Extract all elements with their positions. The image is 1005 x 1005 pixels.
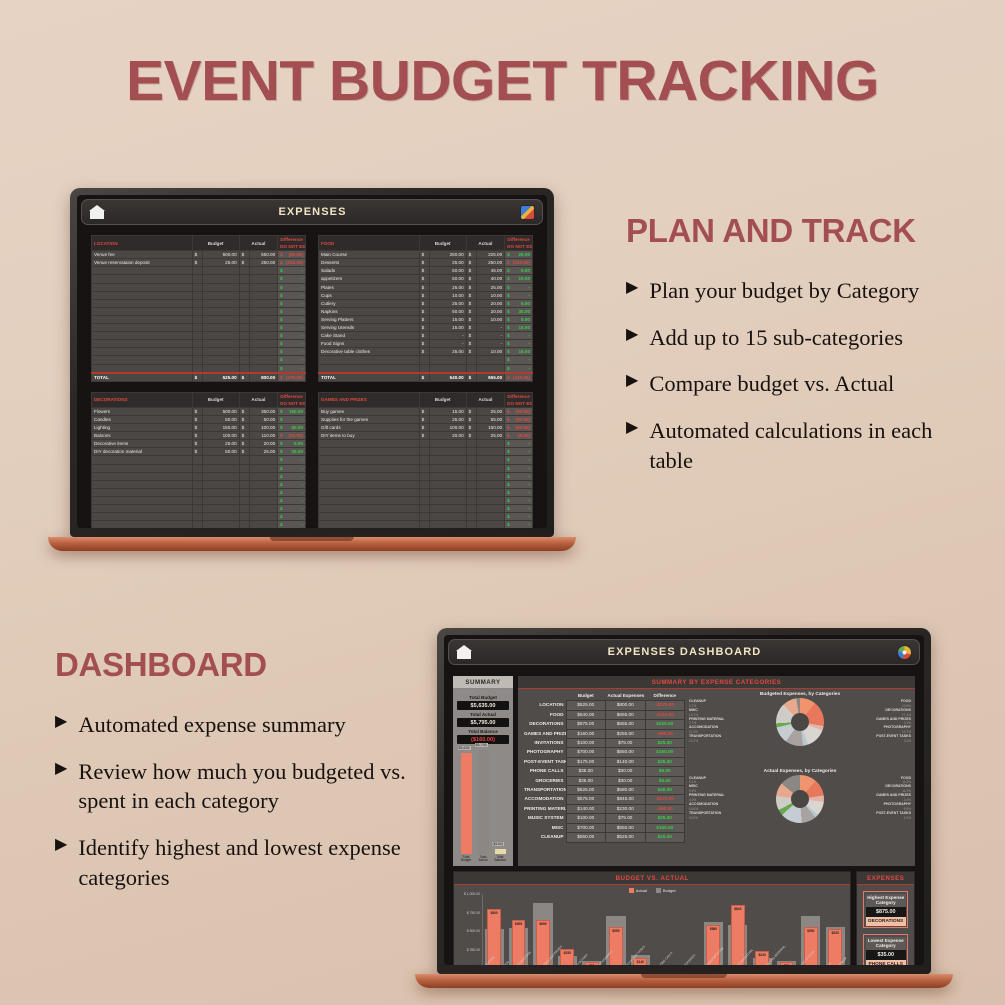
budget-cell[interactable]: 15.00 bbox=[430, 407, 466, 415]
table-row[interactable]: Decorative table clothes$25.00$10.00$15.… bbox=[319, 348, 533, 356]
actual-cell[interactable] bbox=[250, 291, 278, 299]
table-row-empty[interactable]: $- bbox=[319, 448, 533, 456]
table-row-empty[interactable]: $- bbox=[319, 364, 533, 373]
table-row-empty[interactable]: $- bbox=[319, 480, 533, 488]
actual-cell[interactable] bbox=[250, 283, 278, 291]
donut-title: Actual Expenses, by Categories bbox=[689, 769, 911, 774]
actual-cell[interactable]: 10.00 bbox=[477, 291, 505, 299]
table-row[interactable]: Venue fee$500.00$550.00$(50.00) bbox=[92, 251, 306, 259]
actual-cell[interactable] bbox=[477, 364, 505, 373]
bar-group[interactable]: $800 bbox=[483, 894, 505, 965]
actual-cell[interactable]: 250.00 bbox=[477, 259, 505, 267]
budget-cell[interactable] bbox=[203, 472, 239, 480]
actual-cell[interactable] bbox=[250, 315, 278, 323]
budget-cell[interactable]: 500.00 bbox=[203, 251, 239, 259]
table-row-empty[interactable]: $- bbox=[92, 340, 306, 348]
kpi-value: $5,795.00 bbox=[457, 718, 509, 727]
currency-symbol bbox=[419, 488, 430, 496]
table-row-empty[interactable]: $- bbox=[92, 496, 306, 504]
row-label: Napkins bbox=[319, 307, 420, 315]
actual-cell[interactable] bbox=[250, 472, 278, 480]
table-row-empty[interactable]: $- bbox=[319, 456, 533, 464]
actual-cell[interactable]: - bbox=[477, 340, 505, 348]
table-row-empty[interactable]: $- bbox=[319, 496, 533, 504]
row-label: Main Course bbox=[319, 251, 420, 259]
difference-cell: $- bbox=[505, 456, 533, 464]
currency-symbol bbox=[192, 464, 203, 472]
budget-cell[interactable] bbox=[430, 505, 466, 513]
actual-cell[interactable] bbox=[477, 456, 505, 464]
table-row-empty[interactable]: $- bbox=[319, 440, 533, 448]
budget-cell[interactable] bbox=[430, 456, 466, 464]
table-row-empty[interactable]: $- bbox=[92, 456, 306, 464]
row-label[interactable] bbox=[92, 315, 193, 323]
budget-cell[interactable] bbox=[203, 496, 239, 504]
table-row[interactable]: Serving Platters$15.00$10.00$5.00 bbox=[319, 315, 533, 323]
summary-budget: $625.00 bbox=[566, 786, 606, 795]
currency-symbol bbox=[239, 340, 250, 348]
currency-symbol bbox=[239, 332, 250, 340]
currency-symbol: $ bbox=[419, 373, 430, 382]
actual-cell[interactable] bbox=[250, 348, 278, 356]
actual-cell[interactable]: 45.00 bbox=[477, 267, 505, 275]
budget-cell[interactable] bbox=[203, 456, 239, 464]
currency-symbol bbox=[466, 480, 477, 488]
summary-actual: $845.00 bbox=[606, 795, 646, 804]
row-label[interactable] bbox=[319, 488, 420, 496]
currency-symbol bbox=[192, 348, 203, 356]
actual-cell[interactable] bbox=[250, 332, 278, 340]
table-category-header: FOOD bbox=[319, 236, 420, 251]
table-row[interactable]: Venue reservataion deposit$25.00$250.00$… bbox=[92, 259, 306, 267]
difference-cell: $15.00 bbox=[505, 324, 533, 332]
budget-cell[interactable] bbox=[430, 521, 466, 528]
table-row[interactable]: ACCOMODATION$575.00$845.00-$270.00 bbox=[522, 795, 685, 804]
budget-cell[interactable] bbox=[203, 283, 239, 291]
table-row-empty[interactable]: $- bbox=[92, 472, 306, 480]
row-label[interactable] bbox=[92, 267, 193, 275]
table-row-empty[interactable]: $- bbox=[92, 505, 306, 513]
row-label[interactable] bbox=[319, 513, 420, 521]
actual-cell[interactable] bbox=[250, 521, 278, 528]
kpi-label: Total Balance bbox=[457, 729, 509, 734]
row-label[interactable] bbox=[319, 472, 420, 480]
row-label[interactable] bbox=[92, 307, 193, 315]
budget-cell[interactable] bbox=[430, 356, 466, 364]
table-row-empty[interactable]: $- bbox=[92, 315, 306, 323]
budget-cell[interactable] bbox=[430, 440, 466, 448]
budget-cell[interactable] bbox=[203, 348, 239, 356]
table-row[interactable]: PHONE CALLS$35.00$30.00$5.00 bbox=[522, 767, 685, 776]
bar-group[interactable]: $30 bbox=[678, 894, 700, 965]
budget-cell[interactable] bbox=[430, 472, 466, 480]
actual-cell[interactable]: 50.00 bbox=[250, 415, 278, 423]
summary-difference: $5.00 bbox=[645, 776, 685, 785]
actual-cell[interactable] bbox=[250, 356, 278, 364]
table-row-empty[interactable]: $- bbox=[319, 488, 533, 496]
budget-cell[interactable] bbox=[203, 480, 239, 488]
actual-cell[interactable] bbox=[250, 364, 278, 373]
table-row[interactable]: Decorative items$25.00$20.00$5.00 bbox=[92, 440, 306, 448]
budget-cell[interactable]: 25.00 bbox=[430, 259, 466, 267]
table-row-empty[interactable]: $- bbox=[92, 364, 306, 373]
currency-symbol: $ bbox=[239, 373, 250, 382]
table-row[interactable]: Cake Stand$-$-$- bbox=[319, 332, 533, 340]
table-row-empty[interactable]: $- bbox=[319, 521, 533, 528]
budget-cell[interactable]: 50.00 bbox=[203, 415, 239, 423]
budget-cell[interactable]: 100.00 bbox=[430, 424, 466, 432]
table-row[interactable]: Desserts$25.00$250.00$(225.00) bbox=[319, 259, 533, 267]
table-row-empty[interactable]: $- bbox=[92, 267, 306, 275]
actual-cell[interactable] bbox=[250, 324, 278, 332]
table-row[interactable]: Napkins$50.00$20.00$30.00 bbox=[319, 307, 533, 315]
row-label[interactable] bbox=[92, 464, 193, 472]
currency-symbol: $ bbox=[466, 259, 477, 267]
currency-symbol: $ bbox=[192, 415, 203, 423]
table-row[interactable]: Gift cards$100.00$150.00$(50.00) bbox=[319, 424, 533, 432]
budget-cell[interactable] bbox=[203, 299, 239, 307]
budget-cell[interactable] bbox=[203, 267, 239, 275]
budget-cell[interactable] bbox=[430, 480, 466, 488]
row-label: Serving Utensils bbox=[319, 324, 420, 332]
row-label[interactable] bbox=[92, 496, 193, 504]
bullet-triangle-icon: ▶ bbox=[626, 323, 638, 348]
table-row-empty[interactable]: $- bbox=[92, 324, 306, 332]
table-row-empty[interactable]: $- bbox=[92, 275, 306, 283]
difference-cell: $- bbox=[505, 472, 533, 480]
difference-cell: $- bbox=[278, 267, 306, 275]
table-row[interactable]: Salads$50.00$45.00$5.00 bbox=[319, 267, 533, 275]
actual-cell[interactable]: - bbox=[477, 332, 505, 340]
row-label: Baloons bbox=[92, 432, 193, 440]
actual-cell[interactable]: 10.00 bbox=[477, 348, 505, 356]
actual-cell[interactable]: 25.00 bbox=[477, 407, 505, 415]
table-row[interactable]: Flowers$500.00$350.00$150.00 bbox=[92, 407, 306, 415]
table-row-empty[interactable]: $- bbox=[92, 521, 306, 528]
difference-cell: $- bbox=[505, 356, 533, 364]
budget-cell[interactable] bbox=[203, 356, 239, 364]
actual-cell[interactable] bbox=[250, 307, 278, 315]
table-row-empty[interactable]: $- bbox=[92, 291, 306, 299]
actual-cell[interactable]: 250.00 bbox=[250, 259, 278, 267]
budget-cell[interactable]: 50.00 bbox=[203, 448, 239, 456]
summary-difference: $35.00 bbox=[645, 757, 685, 766]
table-row[interactable]: Baloons$100.00$110.00$(10.00) bbox=[92, 432, 306, 440]
table-row-empty[interactable]: $- bbox=[92, 299, 306, 307]
budget-cell[interactable]: 50.00 bbox=[430, 267, 466, 275]
row-label[interactable] bbox=[92, 456, 193, 464]
actual-cell[interactable]: 20.00 bbox=[250, 440, 278, 448]
table-row[interactable]: GAMES AND PRIZES$160.00$255.00-$95.00 bbox=[522, 729, 685, 738]
table-row[interactable]: PHOTOGRAPHY$700.00$550.00$150.00 bbox=[522, 748, 685, 757]
home-icon[interactable] bbox=[456, 645, 472, 659]
actual-cell[interactable] bbox=[250, 505, 278, 513]
row-label[interactable] bbox=[319, 505, 420, 513]
promo-bullet-text: Add up to 15 sub-categories bbox=[649, 323, 903, 353]
budget-cell[interactable]: 250.00 bbox=[430, 251, 466, 259]
table-row-empty[interactable]: $- bbox=[92, 488, 306, 496]
actual-cell[interactable] bbox=[477, 513, 505, 521]
bar-group[interactable]: $525 bbox=[824, 894, 846, 965]
actual-cell[interactable] bbox=[250, 275, 278, 283]
row-label[interactable] bbox=[92, 521, 193, 528]
budget-cell[interactable]: - bbox=[430, 340, 466, 348]
actual-cell[interactable]: - bbox=[477, 324, 505, 332]
row-label[interactable] bbox=[92, 364, 193, 373]
table-row[interactable]: Buy games$15.00$25.00$(10.00) bbox=[319, 407, 533, 415]
kpi-item: Total Balance($160.00) bbox=[457, 729, 509, 744]
actual-cell[interactable]: 350.00 bbox=[250, 407, 278, 415]
kpi-bar-value: $5,795 bbox=[475, 743, 488, 747]
actual-cell[interactable]: 20.00 bbox=[477, 299, 505, 307]
currency-symbol: $ bbox=[419, 324, 430, 332]
table-row[interactable]: DECORATIONS$875.00$655.00$220.00 bbox=[522, 720, 685, 729]
actual-cell[interactable] bbox=[250, 340, 278, 348]
budget-cell[interactable] bbox=[430, 364, 466, 373]
row-label[interactable] bbox=[92, 472, 193, 480]
row-label[interactable] bbox=[92, 324, 193, 332]
actual-cell[interactable] bbox=[250, 456, 278, 464]
actual-cell[interactable] bbox=[250, 299, 278, 307]
row-label[interactable] bbox=[92, 275, 193, 283]
row-label[interactable] bbox=[92, 480, 193, 488]
summary-actual: $75.00 bbox=[606, 814, 646, 823]
legend-item-actual: Actual bbox=[629, 888, 647, 893]
budget-cell[interactable] bbox=[203, 324, 239, 332]
actual-cell[interactable]: 25.00 bbox=[477, 283, 505, 291]
budget-cell[interactable]: 25.00 bbox=[430, 283, 466, 291]
table-row[interactable]: LOCATION$525.00$800.00-$275.00 bbox=[522, 701, 685, 710]
budget-cell[interactable]: 10.00 bbox=[430, 291, 466, 299]
difference-cell: $- bbox=[505, 464, 533, 472]
difference-cell: $(50.00) bbox=[278, 251, 306, 259]
actual-cell[interactable] bbox=[250, 480, 278, 488]
budget-cell[interactable] bbox=[203, 332, 239, 340]
table-row[interactable]: Candles$50.00$50.00$- bbox=[92, 415, 306, 423]
budget-cell[interactable]: - bbox=[430, 332, 466, 340]
difference-cell: $5.00 bbox=[505, 315, 533, 323]
actual-cell[interactable] bbox=[477, 356, 505, 364]
table-row-empty[interactable]: $- bbox=[92, 480, 306, 488]
actual-cell[interactable]: 25.00 bbox=[477, 432, 505, 440]
currency-symbol: $ bbox=[466, 407, 477, 415]
budget-cell[interactable] bbox=[430, 513, 466, 521]
table-row[interactable]: Supplies for the games$25.00$55.00$(30.0… bbox=[319, 415, 533, 423]
actual-cell[interactable]: 20.00 bbox=[477, 307, 505, 315]
budget-cell[interactable] bbox=[430, 448, 466, 456]
table-row[interactable]: Cutlery$25.00$20.00$5.00 bbox=[319, 299, 533, 307]
table-row[interactable]: Serving Utensils$15.00$-$15.00 bbox=[319, 324, 533, 332]
row-label[interactable] bbox=[92, 332, 193, 340]
budget-cell[interactable]: 150.00 bbox=[203, 424, 239, 432]
budget-cell[interactable]: 20.00 bbox=[430, 432, 466, 440]
budget-cell[interactable] bbox=[203, 488, 239, 496]
table-row[interactable]: appetizers$50.00$40.00$10.00 bbox=[319, 275, 533, 283]
row-label[interactable] bbox=[92, 340, 193, 348]
budget-cell[interactable] bbox=[203, 464, 239, 472]
currency-symbol bbox=[192, 488, 203, 496]
budget-cell[interactable] bbox=[203, 307, 239, 315]
expense-table: DECORATIONSBudgetActualDifferenceDO NOT … bbox=[91, 392, 306, 528]
actual-cell[interactable] bbox=[477, 440, 505, 448]
budget-cell[interactable] bbox=[203, 275, 239, 283]
categories-panel: SUMMARY BY EXPENSE CATEGORIES BudgetActu… bbox=[518, 676, 915, 866]
table-category-header: LOCATION bbox=[92, 236, 193, 251]
actual-cell[interactable] bbox=[250, 488, 278, 496]
home-icon[interactable] bbox=[89, 205, 105, 219]
row-label[interactable] bbox=[319, 448, 420, 456]
actual-cell[interactable]: 10.00 bbox=[477, 315, 505, 323]
chart-icon[interactable] bbox=[897, 645, 912, 660]
table-row[interactable]: Main Course$250.00$225.00$25.00 bbox=[319, 251, 533, 259]
total-difference: $(115.00) bbox=[505, 373, 533, 382]
budget-cell[interactable]: 50.00 bbox=[430, 307, 466, 315]
table-row-empty[interactable]: $- bbox=[319, 356, 533, 364]
currency-symbol: $ bbox=[239, 424, 250, 432]
budget-cell[interactable] bbox=[430, 488, 466, 496]
donut-legend-left: CLEANUP9.1%MISC9.5%PRINTING MATERIAL4.0%… bbox=[689, 777, 751, 821]
table-row[interactable]: MUSIC SYSTEM$100.00$75.00$25.00 bbox=[522, 814, 685, 823]
budget-cell[interactable]: 100.00 bbox=[203, 432, 239, 440]
kpi-bar: $5,795 bbox=[478, 750, 489, 854]
summary-actual: $580.00 bbox=[606, 786, 646, 795]
actual-cell[interactable] bbox=[250, 464, 278, 472]
row-label[interactable] bbox=[92, 513, 193, 521]
budget-cell[interactable]: 500.00 bbox=[203, 407, 239, 415]
actual-cell[interactable]: 100.00 bbox=[250, 424, 278, 432]
table-row-empty[interactable]: $- bbox=[92, 513, 306, 521]
actual-cell[interactable]: 110.00 bbox=[250, 432, 278, 440]
budget-cell[interactable] bbox=[430, 496, 466, 504]
actual-cell[interactable] bbox=[477, 464, 505, 472]
row-label: Supplies for the games bbox=[319, 415, 420, 423]
spreadsheet-icon[interactable] bbox=[520, 205, 535, 220]
actual-cell[interactable] bbox=[477, 480, 505, 488]
row-label[interactable] bbox=[92, 488, 193, 496]
budget-cell[interactable] bbox=[203, 513, 239, 521]
table-row-empty[interactable]: $- bbox=[92, 464, 306, 472]
row-label[interactable] bbox=[319, 356, 420, 364]
budget-cell[interactable]: 15.00 bbox=[430, 315, 466, 323]
table-row-empty[interactable]: $- bbox=[92, 307, 306, 315]
row-label[interactable] bbox=[92, 283, 193, 291]
actual-cell[interactable]: 55.00 bbox=[477, 415, 505, 423]
table-row-empty[interactable]: $- bbox=[92, 356, 306, 364]
budget-cell[interactable] bbox=[203, 315, 239, 323]
actual-cell[interactable] bbox=[477, 505, 505, 513]
actual-cell[interactable] bbox=[477, 496, 505, 504]
row-label[interactable] bbox=[319, 456, 420, 464]
budget-cell[interactable]: 25.00 bbox=[430, 299, 466, 307]
budget-cell[interactable]: 25.00 bbox=[430, 415, 466, 423]
table-row[interactable]: Cups$10.00$10.00$- bbox=[319, 291, 533, 299]
currency-symbol bbox=[466, 521, 477, 528]
row-label[interactable] bbox=[92, 291, 193, 299]
table-row-empty[interactable]: $- bbox=[319, 505, 533, 513]
budget-cell[interactable] bbox=[203, 364, 239, 373]
table-row[interactable]: TRANSPORTATION$625.00$580.00$45.00 bbox=[522, 786, 685, 795]
table-row[interactable]: INVITATIONS$100.00$75.00$25.00 bbox=[522, 739, 685, 748]
summary-category: PHOTOGRAPHY bbox=[522, 748, 566, 757]
table-row[interactable]: GROCERIES$35.00$30.00$5.00 bbox=[522, 776, 685, 785]
summary-difference: -$115.00 bbox=[645, 710, 685, 719]
actual-cell[interactable] bbox=[477, 448, 505, 456]
row-label[interactable] bbox=[92, 356, 193, 364]
table-row-empty[interactable]: $- bbox=[92, 332, 306, 340]
currency-symbol bbox=[192, 332, 203, 340]
budget-cell[interactable]: 15.00 bbox=[430, 324, 466, 332]
actual-cell[interactable] bbox=[250, 513, 278, 521]
row-label[interactable] bbox=[319, 480, 420, 488]
budget-cell[interactable]: 50.00 bbox=[430, 275, 466, 283]
row-label: DIY decoration material bbox=[92, 448, 193, 456]
summary-budget: $175.00 bbox=[566, 757, 606, 766]
row-label[interactable] bbox=[319, 521, 420, 528]
budget-cell[interactable]: 25.00 bbox=[203, 440, 239, 448]
row-label[interactable] bbox=[92, 348, 193, 356]
table-row[interactable]: POST-EVENT TASKS$175.00$140.00$35.00 bbox=[522, 757, 685, 766]
row-label[interactable] bbox=[319, 364, 420, 373]
row-label[interactable] bbox=[92, 505, 193, 513]
row-label[interactable] bbox=[319, 496, 420, 504]
actual-cell[interactable] bbox=[250, 496, 278, 504]
table-row[interactable]: Plates$25.00$25.00$- bbox=[319, 283, 533, 291]
table-row[interactable]: PRINTING MATERIAL$140.00$230.00-$90.00 bbox=[522, 804, 685, 813]
actual-cell[interactable] bbox=[250, 267, 278, 275]
actual-cell[interactable] bbox=[477, 472, 505, 480]
y-tick-label: $ 250.00 bbox=[467, 948, 480, 952]
budget-cell[interactable] bbox=[203, 291, 239, 299]
table-row[interactable]: Lighting$150.00$100.00$50.00 bbox=[92, 424, 306, 432]
actual-cell[interactable]: 550.00 bbox=[250, 251, 278, 259]
budget-cell[interactable] bbox=[203, 505, 239, 513]
actual-cell[interactable]: 40.00 bbox=[477, 275, 505, 283]
table-row[interactable]: FOOD$540.00$655.00-$115.00 bbox=[522, 710, 685, 719]
table-row-empty[interactable]: $- bbox=[319, 472, 533, 480]
table-row-empty[interactable]: $- bbox=[92, 348, 306, 356]
summary-category: FOOD bbox=[522, 710, 566, 719]
actual-cell[interactable]: 25.00 bbox=[250, 448, 278, 456]
budget-cell[interactable] bbox=[430, 464, 466, 472]
budget-cell[interactable] bbox=[203, 340, 239, 348]
budget-vs-actual-title: BUDGET VS. ACTUAL bbox=[454, 872, 850, 885]
table-row-empty[interactable]: $- bbox=[319, 513, 533, 521]
budget-cell[interactable]: 25.00 bbox=[203, 259, 239, 267]
row-label[interactable] bbox=[319, 464, 420, 472]
table-row[interactable]: DIY decoration material$50.00$25.00$25.0… bbox=[92, 448, 306, 456]
summary-difference: $5.00 bbox=[645, 767, 685, 776]
table-row[interactable]: Food Signs$-$-$- bbox=[319, 340, 533, 348]
table-row[interactable]: CLEANUP$550.00$525.00$25.00 bbox=[522, 833, 685, 842]
table-row-empty[interactable]: $- bbox=[92, 283, 306, 291]
actual-cell[interactable]: 225.00 bbox=[477, 251, 505, 259]
difference-cell: $50.00 bbox=[278, 424, 306, 432]
actual-cell[interactable] bbox=[477, 488, 505, 496]
summary-col-header: Actual Expenses bbox=[606, 692, 646, 701]
actual-cell[interactable]: 150.00 bbox=[477, 424, 505, 432]
table-row[interactable]: DIY items to buy$20.00$25.00$(5.00) bbox=[319, 432, 533, 440]
difference-cell: $150.00 bbox=[278, 407, 306, 415]
table-row-empty[interactable]: $- bbox=[319, 464, 533, 472]
row-label[interactable] bbox=[92, 299, 193, 307]
actual-cell[interactable] bbox=[477, 521, 505, 528]
table-row[interactable]: MISC$700.00$550.00$150.00 bbox=[522, 823, 685, 832]
summary-category: GAMES AND PRIZES bbox=[522, 729, 566, 738]
laptop-lid-dashboard: EXPENSES DASHBOARD SUMMARY Total Budget$… bbox=[437, 628, 931, 974]
row-label[interactable] bbox=[319, 440, 420, 448]
budget-cell[interactable] bbox=[203, 521, 239, 528]
budget-cell[interactable]: 25.00 bbox=[430, 348, 466, 356]
